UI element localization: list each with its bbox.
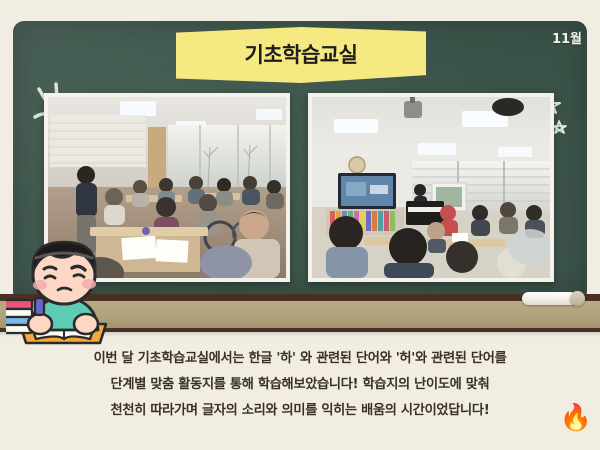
caption-block: 이번 달 기초학습교실에서는 한글 '하' 와 관련된 단어와 '허'와 관련된… bbox=[0, 346, 600, 424]
studying-student-illustration bbox=[6, 240, 124, 347]
photo-content-right bbox=[312, 97, 550, 278]
fire-emoji-icon: 🔥 bbox=[560, 404, 592, 430]
chalk-holder-knob-icon bbox=[570, 291, 585, 306]
classroom-lecture-hall-photo bbox=[308, 93, 554, 282]
poster-canvas: 기초학습교실 11월 bbox=[0, 0, 600, 450]
month-label: 11월 bbox=[552, 28, 582, 47]
caption-line-3: 천천히 따라가며 글자의 소리와 의미를 익히는 배움의 시간이었답니다! bbox=[0, 398, 600, 424]
caption-line-2: 단계별 맞춤 활동지를 통해 학습해보았습니다! 학습지의 난이도에 맞춰 bbox=[0, 372, 600, 398]
caption-line-1: 이번 달 기초학습교실에서는 한글 '하' 와 관련된 단어와 '허'와 관련된… bbox=[0, 346, 600, 372]
page-title: 기초학습교실 bbox=[245, 39, 358, 69]
title-banner: 기초학습교실 bbox=[176, 27, 426, 83]
chalk-stick-icon bbox=[522, 292, 577, 305]
